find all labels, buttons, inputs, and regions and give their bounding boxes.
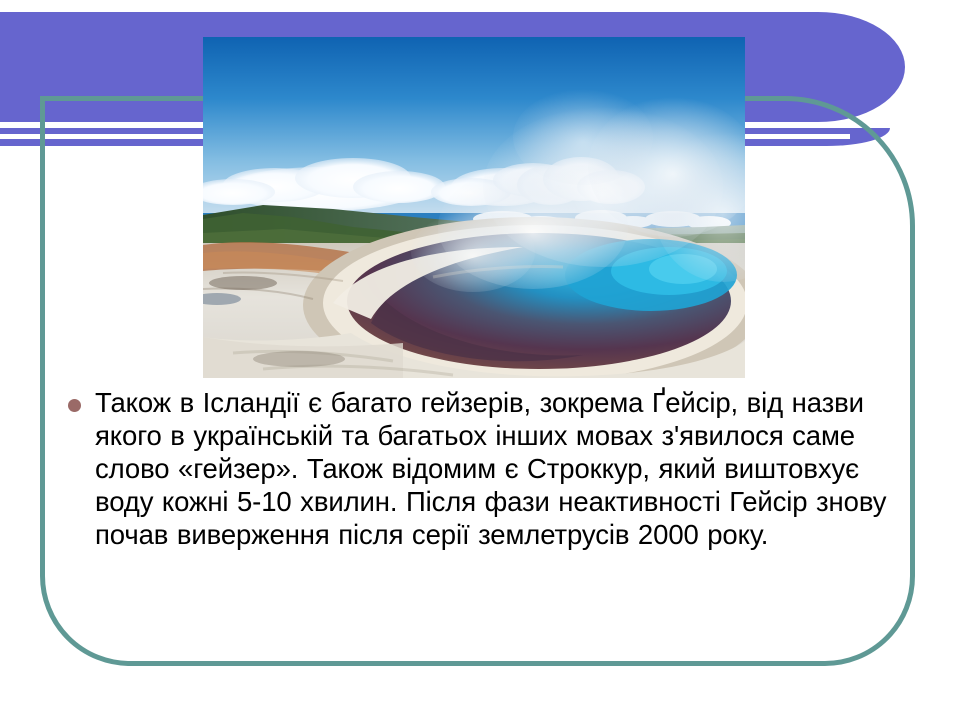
geothermal-hot-spring-photo [203, 37, 745, 378]
bullet-list-item: Також в Ісландії є багато гейзерів, зокр… [68, 386, 898, 551]
body-paragraph: Також в Ісландії є багато гейзерів, зокр… [95, 386, 898, 551]
bullet-marker-icon [68, 399, 81, 412]
geothermal-hot-spring-image [203, 37, 745, 378]
presentation-slide: Також в Ісландії є багато гейзерів, зокр… [0, 0, 960, 720]
